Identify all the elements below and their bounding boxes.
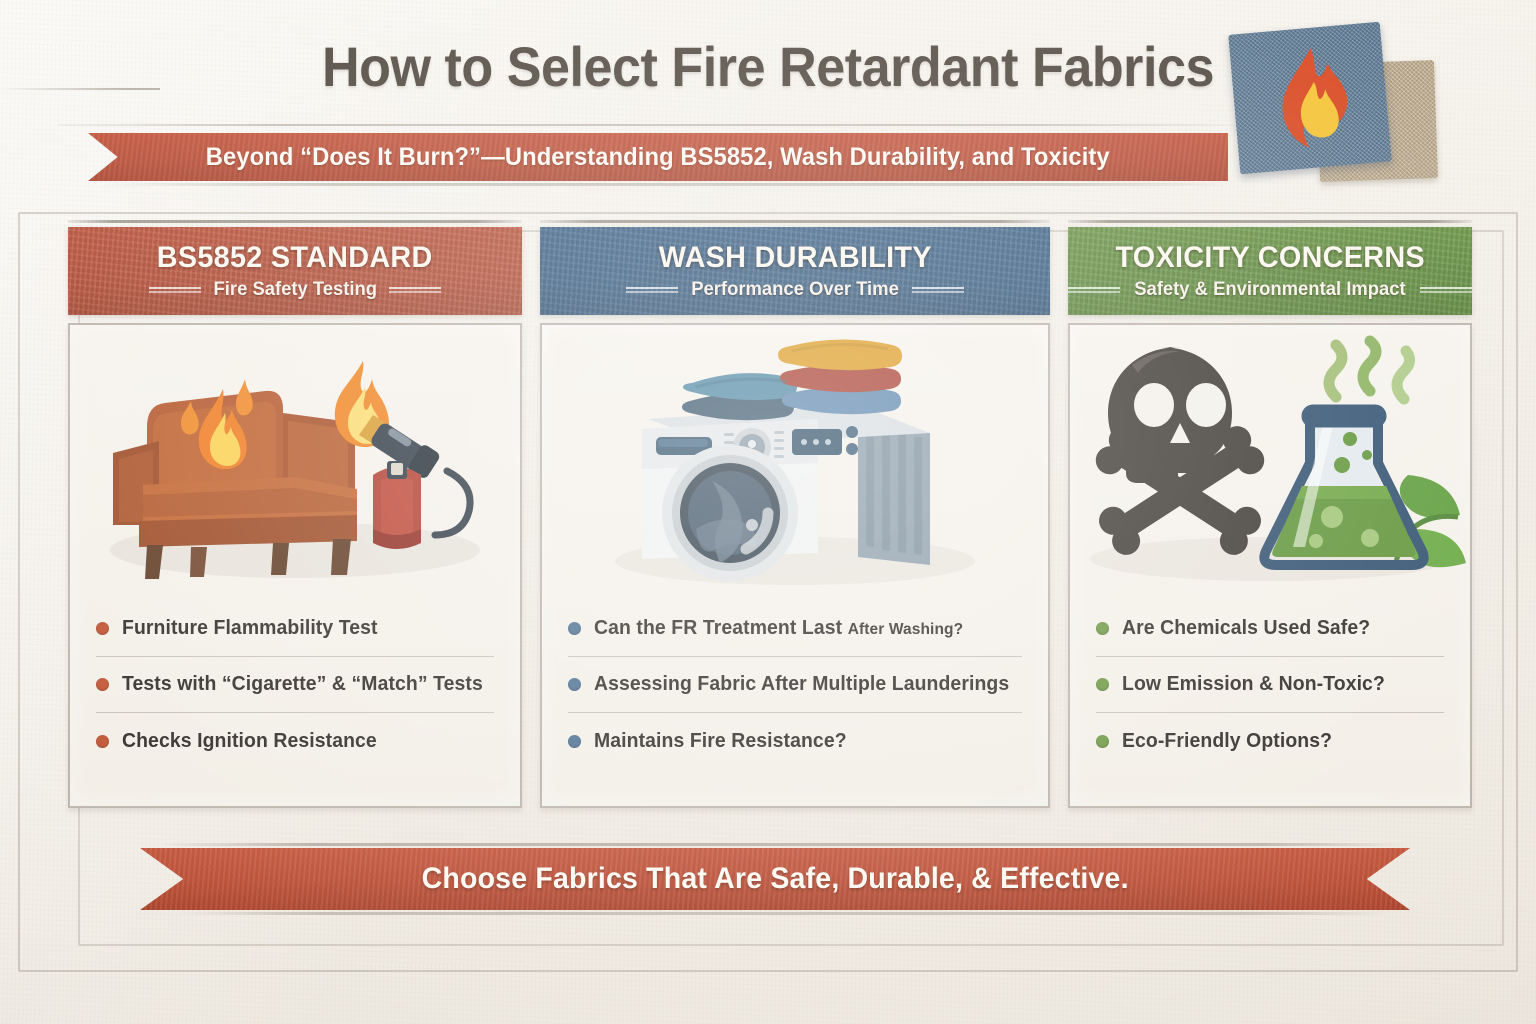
- list-item: Are Chemicals Used Safe?: [1096, 601, 1444, 657]
- burning-armchair-with-gas-torch-icon: [70, 325, 520, 595]
- footer-ribbon: Choose Fabrics That Are Safe, Durable, &…: [140, 848, 1410, 910]
- flame-icon: [1264, 43, 1363, 157]
- bullet-text: Furniture Flammability Test: [122, 617, 378, 640]
- columns-container: BS5852 STANDARD Fire Safety Testing: [68, 220, 1472, 808]
- bullet-text: Tests with “Cigarette” & “Match” Tests: [122, 673, 483, 696]
- list-item: Eco-Friendly Options?: [1096, 713, 1444, 769]
- column-title: BS5852 STANDARD: [157, 241, 433, 275]
- divider-dash-left: [149, 287, 201, 293]
- subtitle-text: Beyond “Does It Burn?”—Understanding BS5…: [206, 143, 1110, 172]
- footer-bottom-rule: [175, 912, 1390, 915]
- column-subtitle: Safety & Environmental Impact: [1134, 279, 1405, 301]
- column-subtitle-row: Safety & Environmental Impact: [1068, 279, 1472, 301]
- column-top-rule: [540, 220, 1050, 223]
- bullet-dot-icon: [568, 735, 581, 748]
- skull-crossbones-and-green-flask-icon: [1070, 325, 1470, 595]
- bullet-text: Low Emission & Non-Toxic?: [1122, 673, 1385, 696]
- list-item: Low Emission & Non-Toxic?: [1096, 657, 1444, 713]
- list-item: Maintains Fire Resistance?: [568, 713, 1022, 769]
- subtitle-ribbon-shadow: [100, 183, 1230, 186]
- bullet-dot-icon: [96, 735, 109, 748]
- column-body-wash-durability: Can the FR Treatment Last After Washing?…: [540, 323, 1050, 808]
- bullet-text: Maintains Fire Resistance?: [594, 730, 847, 753]
- column-title: WASH DURABILITY: [659, 241, 932, 275]
- divider-dash-right: [389, 287, 441, 293]
- bullet-text: Checks Ignition Resistance: [122, 730, 377, 753]
- bullet-text: Assessing Fabric After Multiple Launderi…: [594, 673, 1009, 696]
- divider-dash-left: [626, 287, 678, 293]
- column-toxicity: TOXICITY CONCERNS Safety & Environmental…: [1068, 220, 1472, 808]
- bullet-list-bs5852: Furniture Flammability Test Tests with “…: [70, 595, 520, 779]
- bullet-text: Are Chemicals Used Safe?: [1122, 617, 1370, 640]
- bullet-list-wash-durability: Can the FR Treatment Last After Washing?…: [542, 595, 1048, 779]
- bullet-dot-icon: [568, 622, 581, 635]
- fire-flame-fabric-swatch-icon: [1232, 24, 1448, 192]
- column-subtitle-row: Fire Safety Testing: [149, 279, 442, 301]
- bullet-text-small: After Washing?: [848, 621, 963, 638]
- bullet-dot-icon: [1096, 622, 1109, 635]
- bullet-dot-icon: [1096, 735, 1109, 748]
- infographic-poster: How to Select Fire Retardant Fabrics Bey…: [0, 0, 1536, 1024]
- column-top-rule: [68, 220, 522, 223]
- column-header-bs5852: BS5852 STANDARD Fire Safety Testing: [68, 227, 522, 315]
- bullet-list-toxicity: Are Chemicals Used Safe? Low Emission & …: [1070, 595, 1470, 779]
- column-wash-durability: WASH DURABILITY Performance Over Time: [540, 220, 1050, 808]
- column-header-toxicity: TOXICITY CONCERNS Safety & Environmental…: [1068, 227, 1472, 315]
- divider-dash-right: [1420, 287, 1472, 293]
- subtitle-ribbon: Beyond “Does It Burn?”—Understanding BS5…: [88, 133, 1228, 181]
- skull-icon: [1108, 347, 1232, 483]
- title-underline-rule: [58, 124, 1238, 126]
- column-title: TOXICITY CONCERNS: [1115, 241, 1424, 275]
- bullet-text: Eco-Friendly Options?: [1122, 730, 1332, 753]
- column-subtitle: Fire Safety Testing: [213, 279, 377, 301]
- divider-dash-left: [1068, 287, 1120, 293]
- list-item: Furniture Flammability Test: [96, 601, 494, 657]
- list-item: Checks Ignition Resistance: [96, 713, 494, 769]
- column-subtitle: Performance Over Time: [691, 279, 899, 301]
- list-item: Can the FR Treatment Last After Washing?: [568, 601, 1022, 657]
- footer-top-rule: [160, 843, 1410, 846]
- bullet-dot-icon: [1096, 678, 1109, 691]
- bullet-dot-icon: [568, 678, 581, 691]
- divider-dash-right: [912, 287, 964, 293]
- column-body-bs5852: Furniture Flammability Test Tests with “…: [68, 323, 522, 808]
- column-body-toxicity: Are Chemicals Used Safe? Low Emission & …: [1068, 323, 1472, 808]
- bullet-dot-icon: [96, 678, 109, 691]
- list-item: Assessing Fabric After Multiple Launderi…: [568, 657, 1022, 713]
- footer-text: Choose Fabrics That Are Safe, Durable, &…: [421, 862, 1128, 896]
- column-subtitle-row: Performance Over Time: [626, 279, 964, 301]
- list-item: Tests with “Cigarette” & “Match” Tests: [96, 657, 494, 713]
- column-header-wash-durability: WASH DURABILITY Performance Over Time: [540, 227, 1050, 315]
- washing-machine-with-folded-towels-icon: [542, 325, 1048, 595]
- column-bs5852: BS5852 STANDARD Fire Safety Testing: [68, 220, 522, 808]
- bullet-text: Can the FR Treatment Last After Washing?: [594, 617, 963, 640]
- bullet-dot-icon: [96, 622, 109, 635]
- column-top-rule: [1068, 220, 1472, 223]
